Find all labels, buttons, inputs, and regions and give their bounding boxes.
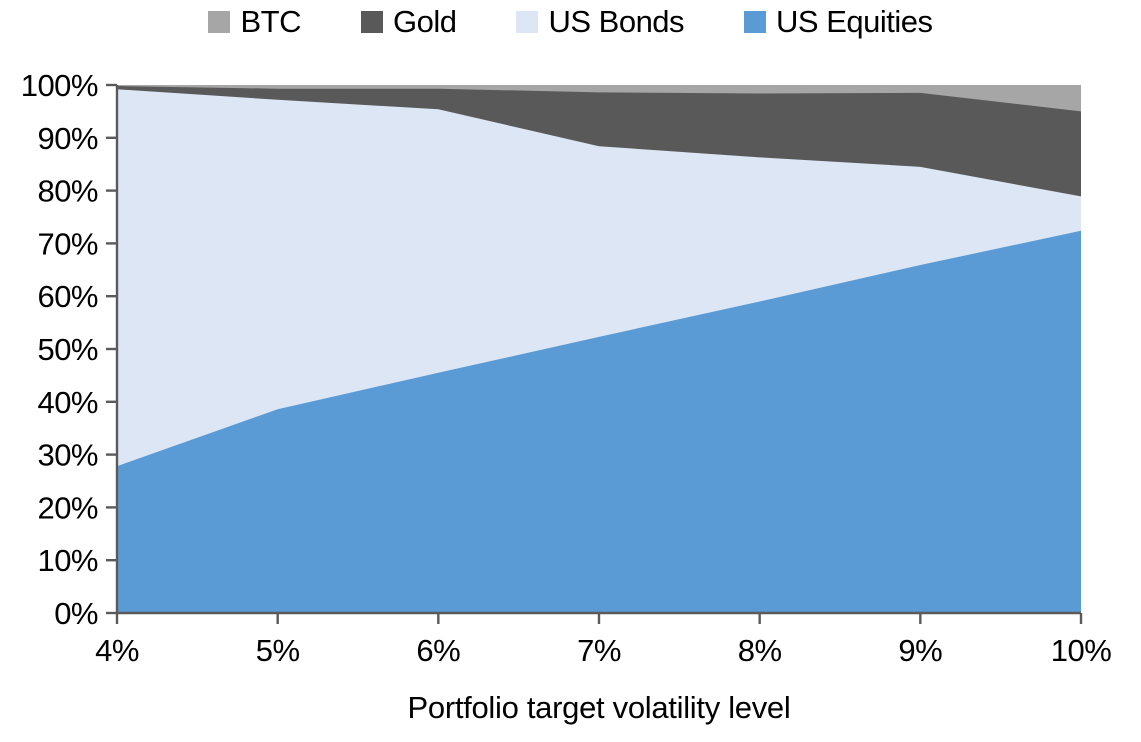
y-tick-label: 0% xyxy=(54,596,98,631)
y-tick-label: 70% xyxy=(37,226,98,261)
y-tick-label: 40% xyxy=(37,385,98,420)
y-tick-label: 80% xyxy=(37,174,98,209)
x-tick-label: 4% xyxy=(95,633,139,668)
x-tick-label: 10% xyxy=(1051,633,1112,668)
y-tick-label: 30% xyxy=(37,438,98,473)
y-tick-label: 100% xyxy=(21,68,98,103)
y-axis-ticks: 0%10%20%30%40%50%60%70%80%90%100% xyxy=(21,68,117,631)
y-tick-label: 60% xyxy=(37,279,98,314)
x-tick-label: 8% xyxy=(738,633,782,668)
x-tick-label: 7% xyxy=(577,633,621,668)
y-tick-label: 50% xyxy=(37,332,98,367)
y-tick-label: 90% xyxy=(37,121,98,156)
area-series-group xyxy=(117,85,1081,613)
x-tick-label: 9% xyxy=(898,633,942,668)
plot-area: 0%10%20%30%40%50%60%70%80%90%100% 4%5%6%… xyxy=(0,0,1141,742)
x-axis-title: Portfolio target volatility level xyxy=(408,690,791,725)
y-tick-label: 20% xyxy=(37,490,98,525)
y-tick-label: 10% xyxy=(37,543,98,578)
x-axis-ticks: 4%5%6%7%8%9%10% xyxy=(95,613,1111,668)
x-tick-label: 5% xyxy=(256,633,300,668)
x-tick-label: 6% xyxy=(416,633,460,668)
stacked-area-chart: BTC Gold US Bonds US Equities 0%10%20%30… xyxy=(0,0,1141,742)
